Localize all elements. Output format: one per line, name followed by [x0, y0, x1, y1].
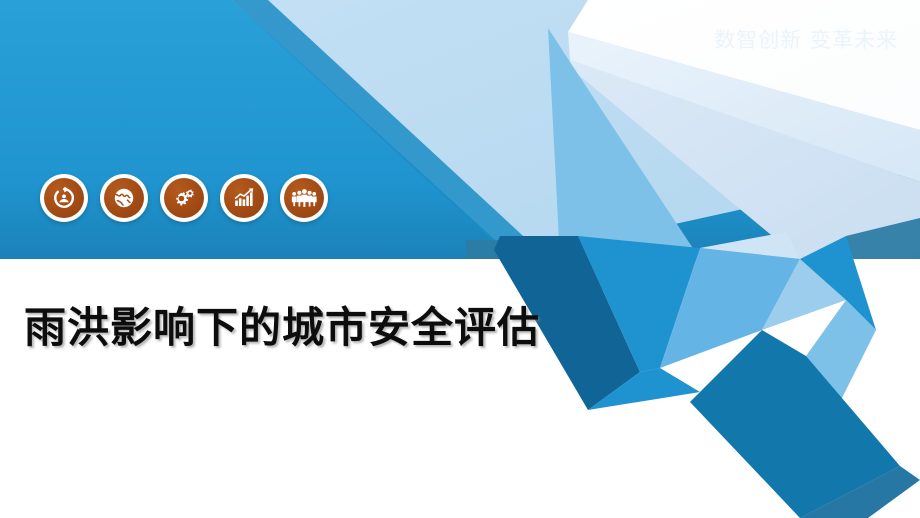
background-geometric-art: [0, 0, 920, 518]
page-title: 雨洪影响下的城市安全评估: [24, 294, 540, 355]
globe-icon: [112, 186, 136, 210]
people-group-icon: [291, 186, 317, 210]
icon-badge-recycle[interactable]: [40, 174, 88, 222]
presentation-slide: 数智创新 变革未来: [0, 0, 920, 518]
recycle-arrow-icon: [52, 186, 76, 210]
icon-badge-gears[interactable]: [160, 174, 208, 222]
gears-icon: [172, 186, 197, 211]
icon-badge-bar-chart[interactable]: [220, 174, 268, 222]
icon-disc: [104, 178, 144, 218]
bar-chart-growth-icon: [232, 186, 256, 210]
icon-badge-globe[interactable]: [100, 174, 148, 222]
header-tagline: 数智创新 变革未来: [714, 27, 898, 53]
icon-badge-people[interactable]: [280, 174, 328, 222]
icon-disc: [164, 178, 204, 218]
icon-disc: [44, 178, 84, 218]
icon-disc: [224, 178, 264, 218]
icon-disc: [284, 178, 324, 218]
feature-icon-row: [40, 174, 328, 222]
